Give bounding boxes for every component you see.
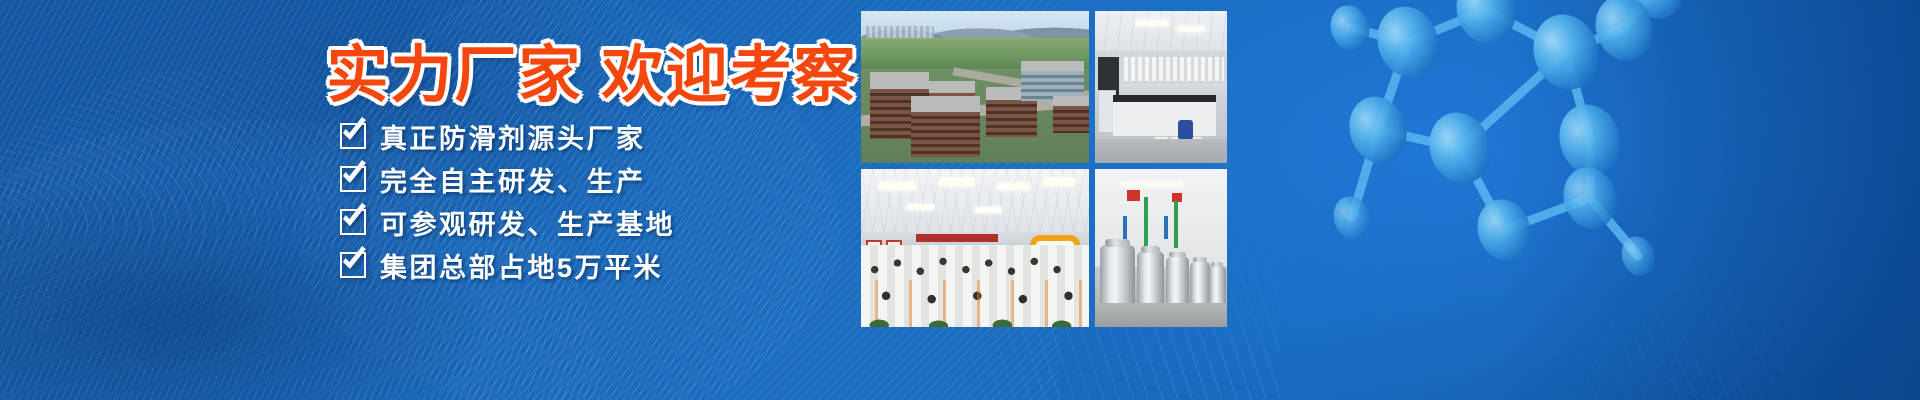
promo-banner: 实力厂家 欢迎考察 真正防滑剂源头厂家 完全自主研发、生产 xyxy=(0,0,1920,400)
aerial-campus-photo xyxy=(861,11,1089,163)
feature-item-label: 可参观研发、生产基地 xyxy=(380,203,675,242)
feature-item-label: 集团总部占地5万平米 xyxy=(380,246,663,285)
production-equipment-photo xyxy=(1095,169,1227,327)
feature-item-label: 完全自主研发、生产 xyxy=(380,160,646,199)
feature-item: 可参观研发、生产基地 xyxy=(340,204,810,240)
checkbox-checked-icon xyxy=(340,166,366,192)
laboratory-photo xyxy=(1095,11,1227,163)
feature-item: 完全自主研发、生产 xyxy=(340,161,810,197)
staff-assembly-photo xyxy=(861,169,1089,327)
feature-list: 真正防滑剂源头厂家 完全自主研发、生产 可参观研发、生产基地 xyxy=(340,118,810,283)
molecule-structure-decoration xyxy=(1290,0,1810,400)
banner-headline: 实力厂家 欢迎考察 xyxy=(332,28,852,110)
feature-item: 集团总部占地5万平米 xyxy=(340,247,810,283)
photo-grid xyxy=(861,11,1227,327)
feature-item-label: 真正防滑剂源头厂家 xyxy=(380,117,646,156)
feature-item: 真正防滑剂源头厂家 xyxy=(340,118,810,154)
checkbox-checked-icon xyxy=(340,252,366,278)
checkbox-checked-icon xyxy=(340,123,366,149)
checkbox-checked-icon xyxy=(340,209,366,235)
